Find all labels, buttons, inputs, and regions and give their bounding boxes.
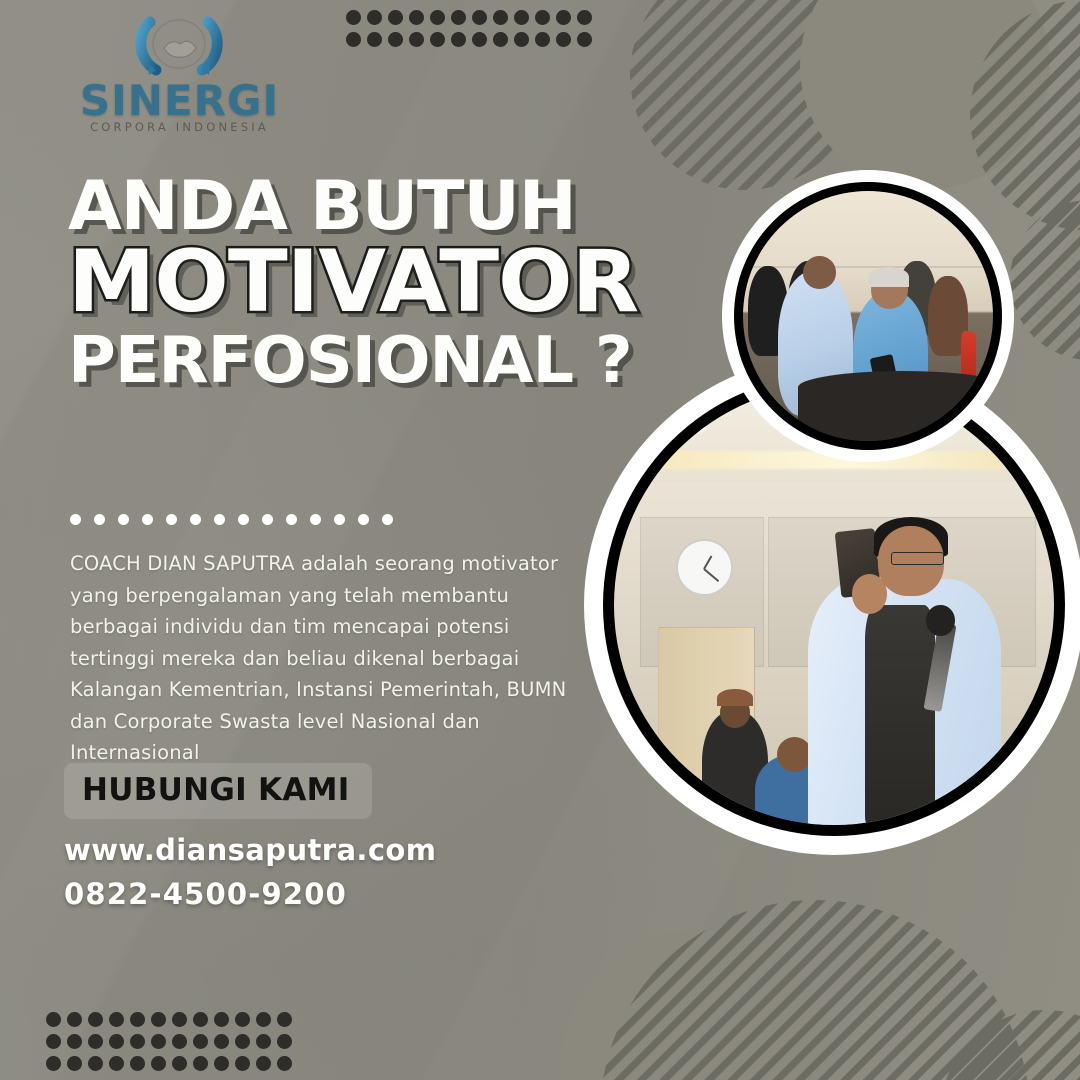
decor-dot xyxy=(235,1056,250,1071)
decor-dot xyxy=(514,32,529,47)
decor-dot xyxy=(130,1034,145,1049)
decor-dot xyxy=(367,32,382,47)
decor-dot xyxy=(235,1012,250,1027)
contact-info: www.diansaputra.com 0822-4500-9200 xyxy=(64,833,436,911)
decor-dot xyxy=(277,1034,292,1049)
decor-dot xyxy=(514,10,529,25)
logo-subtext: CORPORA INDONESIA xyxy=(72,120,287,134)
decor-dot xyxy=(46,1012,61,1027)
decor-dot xyxy=(151,1012,166,1027)
decor-dot xyxy=(346,10,361,25)
decor-dot xyxy=(451,32,466,47)
decor-dot xyxy=(451,10,466,25)
decor-dot xyxy=(109,1056,124,1071)
decor-dot xyxy=(556,32,571,47)
decor-dot xyxy=(166,514,177,525)
decor-dot xyxy=(172,1012,187,1027)
decor-dot xyxy=(430,10,445,25)
decor-dot xyxy=(172,1034,187,1049)
decor-dot xyxy=(109,1012,124,1027)
decor-dot xyxy=(286,514,297,525)
decor-dot xyxy=(214,1034,229,1049)
decor-dot xyxy=(358,514,369,525)
decor-dot xyxy=(334,514,345,525)
decor-dot xyxy=(214,1012,229,1027)
decor-dot xyxy=(493,32,508,47)
decor-dot xyxy=(130,1056,145,1071)
decor-dot xyxy=(193,1034,208,1049)
decor-dot xyxy=(388,32,403,47)
decor-dot xyxy=(535,32,550,47)
decor-dot xyxy=(262,514,273,525)
decor-dot xyxy=(256,1034,271,1049)
brand-logo[interactable]: SINERGI CORPORA INDONESIA xyxy=(72,8,287,140)
decor-dot xyxy=(130,1012,145,1027)
decor-dot xyxy=(493,10,508,25)
decor-dot xyxy=(46,1034,61,1049)
decor-dot xyxy=(256,1056,271,1071)
logo-wordmark: SINERGI xyxy=(72,80,287,122)
decor-dot xyxy=(556,10,571,25)
seminar-photo-circle xyxy=(722,170,1014,462)
decor-dot xyxy=(382,514,393,525)
decor-dot xyxy=(409,10,424,25)
decor-dot xyxy=(409,32,424,47)
decor-dot xyxy=(238,514,249,525)
decor-dot xyxy=(214,514,225,525)
decor-dot xyxy=(67,1012,82,1027)
decor-dot xyxy=(151,1056,166,1071)
decor-dot xyxy=(367,10,382,25)
decor-dot xyxy=(88,1034,103,1049)
headline-line-1: ANDA BUTUH xyxy=(68,176,700,239)
decor-dot xyxy=(472,32,487,47)
decor-dot xyxy=(88,1056,103,1071)
dot-grid-bottom xyxy=(46,1012,298,1078)
phone-number[interactable]: 0822-4500-9200 xyxy=(64,877,436,911)
decor-dot xyxy=(577,32,592,47)
decor-dot xyxy=(109,1034,124,1049)
decor-dot xyxy=(172,1056,187,1071)
decor-dot xyxy=(430,32,445,47)
decor-dot xyxy=(235,1034,250,1049)
decor-dot xyxy=(151,1034,166,1049)
decor-dot xyxy=(310,514,321,525)
decor-dot xyxy=(472,10,487,25)
decor-dot xyxy=(142,514,153,525)
decor-dot xyxy=(214,1056,229,1071)
decor-dot xyxy=(118,514,129,525)
decor-dot xyxy=(70,514,81,525)
seminar-photo-inner-ring xyxy=(734,182,1002,450)
page-title: ANDA BUTUH MOTIVATOR PERFOSIONAL ? xyxy=(68,176,688,391)
decor-dot xyxy=(88,1012,103,1027)
decor-dot xyxy=(46,1056,61,1071)
poster-canvas: SINERGI CORPORA INDONESIA ANDA BUTUH MOT… xyxy=(0,0,1080,1080)
decor-dot xyxy=(277,1012,292,1027)
decor-dot xyxy=(190,514,201,525)
contact-us-button[interactable]: HUBUNGI KAMI xyxy=(64,763,372,819)
body-paragraph: COACH DIAN SAPUTRA adalah seorang motiva… xyxy=(70,548,568,769)
headline-line-2: MOTIVATOR xyxy=(68,243,700,322)
decor-dot xyxy=(94,514,105,525)
decor-dot xyxy=(67,1056,82,1071)
decor-dot xyxy=(346,32,361,47)
seminar-photo-image xyxy=(743,191,993,441)
dot-row-divider xyxy=(70,514,406,525)
decor-dot xyxy=(577,10,592,25)
decor-dot xyxy=(67,1034,82,1049)
website-link[interactable]: www.diansaputra.com xyxy=(64,833,436,867)
decor-dot xyxy=(277,1056,292,1071)
decor-dot xyxy=(193,1056,208,1071)
decor-dot xyxy=(193,1012,208,1027)
decor-dot xyxy=(256,1012,271,1027)
decor-dot xyxy=(388,10,403,25)
decor-dot xyxy=(535,10,550,25)
headline-line-3: PERFOSIONAL ? xyxy=(68,332,700,391)
wall-clock xyxy=(676,539,733,596)
dot-grid-top xyxy=(346,10,598,54)
